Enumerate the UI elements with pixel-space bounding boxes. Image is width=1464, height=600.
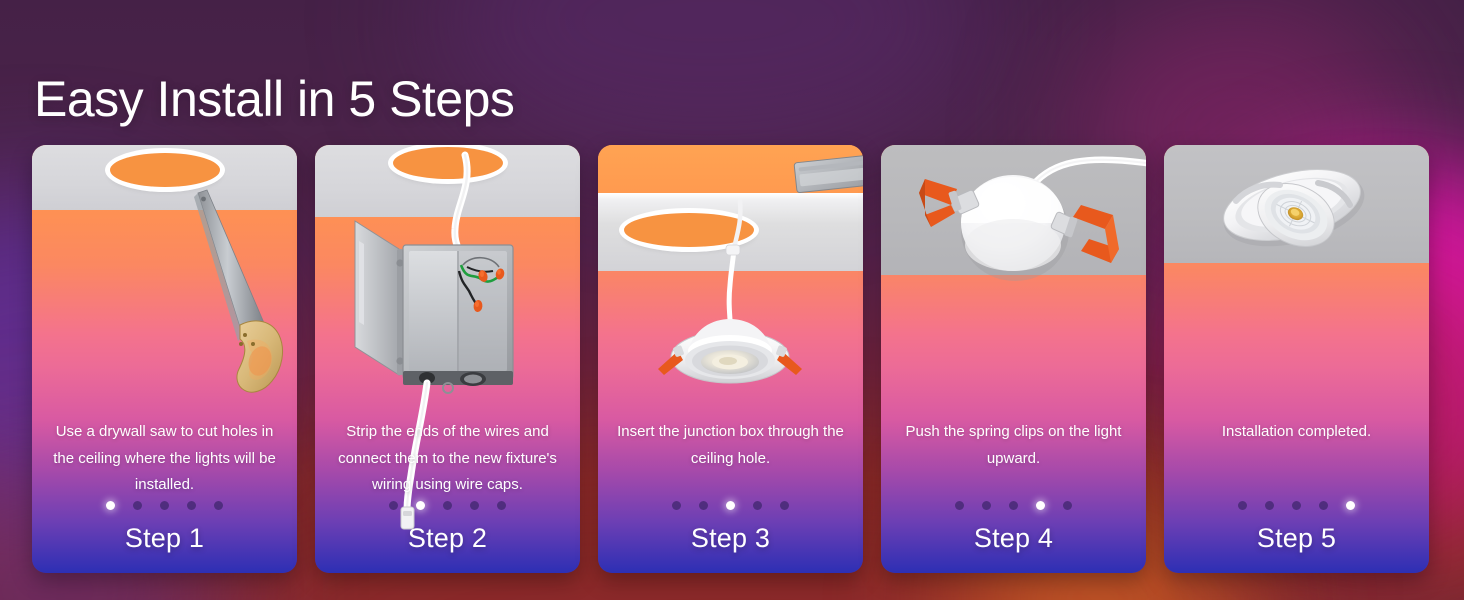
dot-5[interactable] [214,501,223,510]
step-description: Use a drywall saw to cut holes in the ce… [44,419,285,499]
ceiling-hole [393,147,503,179]
steps-carousel: Use a drywall saw to cut holes in the ce… [32,145,1432,573]
step-card-4[interactable]: Push the spring clips on the light upwar… [881,145,1146,573]
step-dots-1[interactable] [32,501,297,510]
step-card-5[interactable]: Installation completed. Step 5 [1164,145,1429,573]
step-dots-3[interactable] [598,501,863,510]
step-label: Step 5 [1164,523,1429,554]
step-description: Insert the junction box through the ceil… [610,419,851,472]
dot-1[interactable] [1238,501,1247,510]
dot-5[interactable] [780,501,789,510]
step-label: Step 2 [315,523,580,554]
step-description: Installation completed. [1176,419,1417,446]
ceiling-panel [881,145,1146,275]
step-description: Push the spring clips on the light upwar… [893,419,1134,472]
dot-5[interactable] [497,501,506,510]
page-title: Easy Install in 5 Steps [34,74,514,124]
dot-4[interactable] [1319,501,1328,510]
ceiling-panel [1164,145,1429,263]
step-card-3[interactable]: Insert the junction box through the ceil… [598,145,863,573]
step-label: Step 3 [598,523,863,554]
step-dots-4[interactable] [881,501,1146,510]
step-card-2[interactable]: Strip the ends of the wires and connect … [315,145,580,573]
dot-5[interactable] [1063,501,1072,510]
dot-3[interactable] [1292,501,1301,510]
ceiling-hole [110,153,220,187]
dot-4[interactable] [187,501,196,510]
ceiling-hole [624,213,754,247]
dot-4[interactable] [1036,501,1045,510]
step-card-1[interactable]: Use a drywall saw to cut holes in the ce… [32,145,297,573]
dot-3[interactable] [726,501,735,510]
dot-3[interactable] [160,501,169,510]
dot-4[interactable] [470,501,479,510]
attic-space-strip [598,145,863,193]
dot-2[interactable] [982,501,991,510]
dot-1[interactable] [955,501,964,510]
step-label: Step 4 [881,523,1146,554]
dot-4[interactable] [753,501,762,510]
dot-3[interactable] [1009,501,1018,510]
step-label: Step 1 [32,523,297,554]
dot-2[interactable] [416,501,425,510]
dot-2[interactable] [699,501,708,510]
dot-2[interactable] [1265,501,1274,510]
step-description: Strip the ends of the wires and connect … [327,419,568,499]
dot-1[interactable] [106,501,115,510]
dot-1[interactable] [389,501,398,510]
step-dots-5[interactable] [1164,501,1429,510]
step-dots-2[interactable] [315,501,580,510]
dot-2[interactable] [133,501,142,510]
dot-5[interactable] [1346,501,1355,510]
dot-3[interactable] [443,501,452,510]
dot-1[interactable] [672,501,681,510]
